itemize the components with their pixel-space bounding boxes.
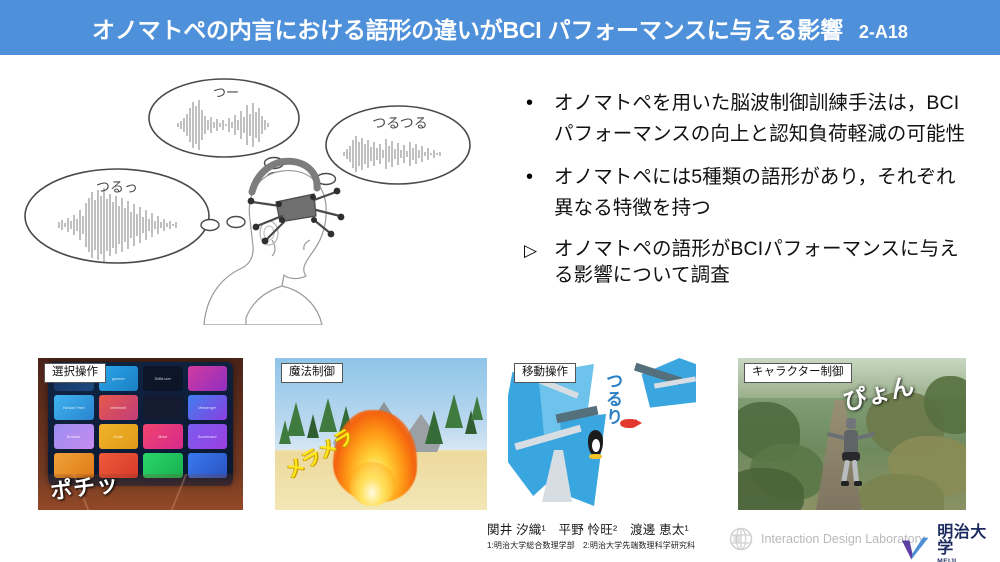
photo-label-3: キャラクター制御 bbox=[744, 363, 852, 383]
robot-torso bbox=[844, 430, 858, 454]
bullet-line: オノマトペには5種類の語形があり，それぞれ bbox=[554, 162, 990, 193]
slide-header: オノマトペの内言における語形の違いがBCI パフォーマンスに与える影響 2-A1… bbox=[0, 0, 1000, 55]
robot-foot-left bbox=[841, 481, 849, 486]
example-photo-strip: gscreen DMM.com Horizon Feed imherised M… bbox=[0, 358, 1000, 510]
vr-app-tile: Guide bbox=[99, 424, 139, 449]
vr-app-tile: imherised bbox=[99, 395, 139, 420]
tree-shape bbox=[425, 410, 443, 444]
example-photo-selection[interactable]: gscreen DMM.com Horizon Feed imherised M… bbox=[38, 358, 243, 510]
onomatope-label-2: つるり bbox=[600, 372, 625, 426]
robot-arm-left bbox=[827, 432, 845, 440]
bullet-list: • オノマトペを用いた脳波制御訓練手法は，BCI パフォーマンスの向上と認知負荷… bbox=[524, 88, 990, 300]
photo-label-1: 魔法制御 bbox=[281, 363, 343, 383]
page-title: オノマトペの内言における語形の違いがBCI パフォーマンスに与える影響 bbox=[92, 11, 843, 45]
vr-app-grid: gscreen DMM.com Horizon Feed imherised M… bbox=[54, 366, 227, 478]
bullet-line: オノマトペの語形がBCIパフォーマンスに与え bbox=[554, 236, 990, 262]
author-block: 関井 汐織¹ 平野 怜旺² 渡邊 恵太¹ 1:明治大学総合数理学部 2:明治大学… bbox=[487, 523, 695, 551]
bullet-text-3: オノマトペの語形がBCIパフォーマンスに与え る影響について調査 bbox=[554, 236, 990, 288]
explosion-core bbox=[349, 462, 395, 506]
vr-app-tile: Browser bbox=[54, 424, 94, 449]
photo-label-0: 選択操作 bbox=[44, 363, 106, 383]
vr-app-tile: Horizon Feed bbox=[54, 395, 94, 420]
bullet-text-1: オノマトペを用いた脳波制御訓練手法は，BCI パフォーマンスの向上と認知負荷軽減… bbox=[554, 88, 990, 150]
author-affiliations: 1:明治大学総合数理学部 2:明治大学先端数理科学研究科 bbox=[487, 541, 695, 551]
bullet-item-2: • オノマトペには5種類の語形があり，それぞれ 異なる特徴を持つ bbox=[524, 162, 990, 224]
vr-app-tile: Scoreboard bbox=[188, 424, 228, 449]
robot-character bbox=[830, 416, 872, 486]
illustration-svg: つるっ つー bbox=[14, 70, 494, 325]
example-photo-magic[interactable]: メラメラ 魔法制御 bbox=[275, 358, 487, 510]
robot-foot-right bbox=[854, 481, 862, 486]
bullet-marker-dot-2: • bbox=[524, 162, 554, 193]
header-inner: オノマトペの内言における語形の違いがBCI パフォーマンスに与える影響 2-A1… bbox=[92, 11, 908, 45]
bullet-marker-dot-1: • bbox=[524, 88, 554, 119]
author-names: 関井 汐織¹ 平野 怜旺² 渡邊 恵太¹ bbox=[487, 523, 695, 538]
penguin-character bbox=[588, 430, 603, 456]
bullet-marker-triangle-icon: ▷ bbox=[524, 236, 554, 265]
bullet-line: 異なる特徴を持つ bbox=[554, 193, 990, 224]
vr-app-tile: Move bbox=[143, 424, 183, 449]
bullet-item-3: ▷ オノマトペの語形がBCIパフォーマンスに与え る影響について調査 bbox=[524, 236, 990, 288]
tree-shape bbox=[445, 394, 463, 428]
photo-label-2: 移動操作 bbox=[514, 363, 576, 383]
tree-shape bbox=[279, 420, 291, 444]
university-wordmark: 明治大学 MEIJI UNIVERSITY bbox=[937, 525, 1000, 562]
vr-app-tile: Messenger bbox=[188, 395, 228, 420]
vr-app-tile bbox=[188, 366, 228, 391]
robot-head bbox=[846, 418, 856, 429]
bullet-line: る影響について調査 bbox=[554, 262, 990, 288]
bullet-line: オノマトペを用いた脳波制御訓練手法は，BCI bbox=[554, 88, 990, 119]
tree-shape bbox=[307, 414, 319, 438]
tree-shape bbox=[471, 396, 483, 420]
person-outline bbox=[204, 171, 326, 325]
meiji-v-mark-icon bbox=[900, 536, 932, 562]
example-photo-movement[interactable]: つるり 移動操作 bbox=[508, 358, 696, 510]
thought-bubble-left-label: つるっ bbox=[96, 180, 138, 196]
university-name-jp: 明治大学 bbox=[937, 525, 1000, 557]
session-id-badge: 2-A18 bbox=[859, 22, 908, 43]
bullet-item-1: • オノマトペを用いた脳波制御訓練手法は，BCI パフォーマンスの向上と認知負荷… bbox=[524, 88, 990, 150]
vr-app-tile: DMM.com bbox=[143, 366, 183, 391]
example-photo-character[interactable]: ぴょん キャラクター制御 bbox=[738, 358, 966, 510]
slide-footer: 関井 汐織¹ 平野 怜旺² 渡邊 恵太¹ 1:明治大学総合数理学部 2:明治大学… bbox=[0, 520, 1000, 562]
bullet-line: パフォーマンスの向上と認知負荷軽減の可能性 bbox=[554, 119, 990, 150]
thought-bubble-right-label: つるつる bbox=[372, 116, 427, 132]
sphere-grid-icon bbox=[729, 527, 753, 551]
inner-speech-illustration: つるっ つー bbox=[14, 70, 494, 325]
vr-app-tile bbox=[143, 395, 183, 420]
slide-root: オノマトペの内言における語形の違いがBCI パフォーマンスに与える影響 2-A1… bbox=[0, 0, 1000, 562]
lab-logo: Interaction Design Laboratory bbox=[729, 527, 925, 551]
bullet-text-2: オノマトペには5種類の語形があり，それぞれ 異なる特徴を持つ bbox=[554, 162, 990, 224]
university-logo: 明治大学 MEIJI UNIVERSITY bbox=[900, 525, 1000, 562]
thought-bubble-top-label: つー bbox=[213, 86, 239, 101]
